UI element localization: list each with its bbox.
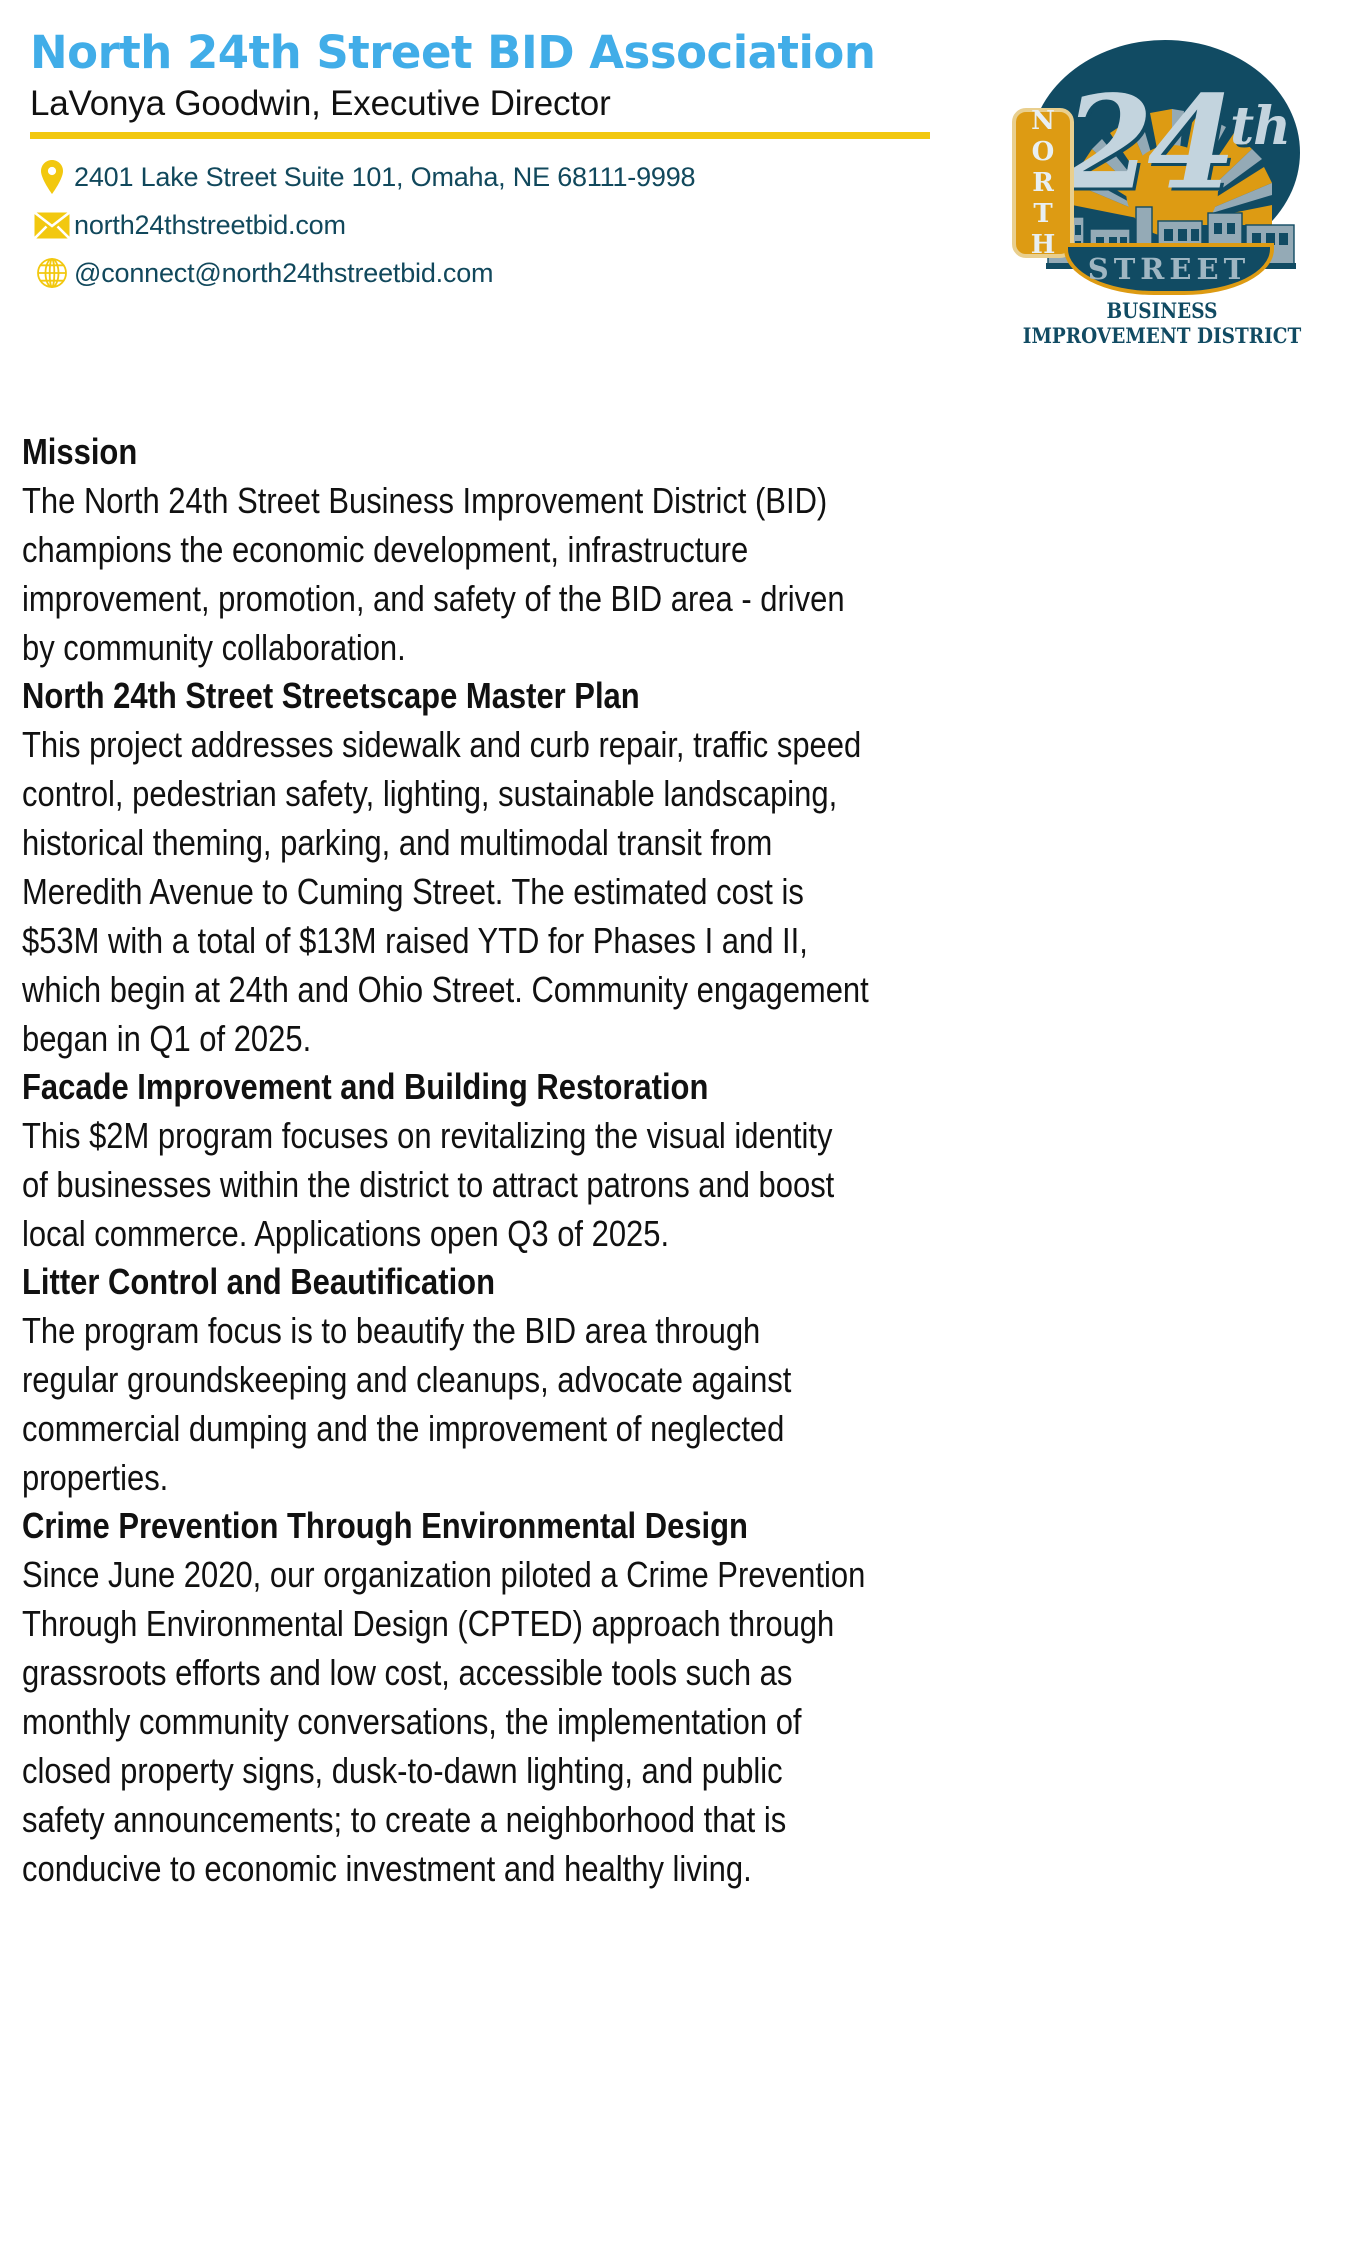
logo-badge: 24th NORTH STREET: [1012, 30, 1312, 295]
paragraph-line: This $2M program focuses on revitalizing…: [22, 1111, 1329, 1160]
section-paragraph: This $2M program focuses on revitalizing…: [22, 1111, 1329, 1258]
logo-street-text: STREET: [1088, 252, 1250, 286]
paragraph-line: $53M with a total of $13M raised YTD for…: [22, 916, 1329, 965]
content-section: Litter Control and BeautificationThe pro…: [22, 1258, 1334, 1502]
paragraph-line: regular groundskeeping and cleanups, adv…: [22, 1355, 1329, 1404]
paragraph-line: The North 24th Street Business Improveme…: [22, 476, 1329, 525]
paragraph-line: conducive to economic investment and hea…: [22, 1844, 1329, 1893]
content-section: Facade Improvement and Building Restorat…: [22, 1063, 1334, 1258]
paragraph-line: local commerce. Applications open Q3 of …: [22, 1209, 1329, 1258]
section-heading: Mission: [22, 428, 1150, 476]
paragraph-line: improvement, promotion, and safety of th…: [22, 574, 1329, 623]
logo-street-banner: STREET: [1064, 243, 1274, 295]
logo-north-text: NORTH: [1031, 106, 1055, 261]
contact-list: 2401 Lake Street Suite 101, Omaha, NE 68…: [30, 153, 970, 297]
section-paragraph: The program focus is to beautify the BID…: [22, 1306, 1329, 1502]
logo-number-suffix: th: [1230, 96, 1290, 157]
header-text-block: North 24th Street BID Association LaVony…: [30, 26, 970, 297]
document-header: North 24th Street BID Association LaVony…: [0, 0, 1350, 425]
content-section: Crime Prevention Through Environmental D…: [22, 1502, 1334, 1893]
section-heading: Crime Prevention Through Environmental D…: [22, 1502, 1150, 1550]
organization-title: North 24th Street BID Association: [30, 26, 970, 80]
paragraph-line: safety announcements; to create a neighb…: [22, 1795, 1329, 1844]
paragraph-line: which begin at 24th and Ohio Street. Com…: [22, 965, 1329, 1014]
logo-caption-bid: BUSINESS IMPROVEMENT DISTRICT: [1021, 298, 1303, 348]
paragraph-line: grassroots efforts and low cost, accessi…: [22, 1648, 1329, 1697]
content-section: MissionThe North 24th Street Business Im…: [22, 428, 1334, 672]
content-section: North 24th Street Streetscape Master Pla…: [22, 672, 1334, 1063]
section-paragraph: Since June 2020, our organization pilote…: [22, 1550, 1329, 1893]
paragraph-line: began in Q1 of 2025.: [22, 1014, 1329, 1063]
paragraph-line: The program focus is to beautify the BID…: [22, 1306, 1329, 1355]
logo-north-plaque: NORTH: [1012, 108, 1074, 258]
social-handle-text[interactable]: @connect@north24thstreetbid.com: [74, 257, 493, 289]
paragraph-line: monthly community conversations, the imp…: [22, 1697, 1329, 1746]
location-pin-icon: [30, 160, 74, 194]
paragraph-line: Through Environmental Design (CPTED) app…: [22, 1599, 1329, 1648]
gold-divider-rule: [30, 132, 930, 139]
document-body: MissionThe North 24th Street Business Im…: [22, 428, 1334, 1893]
address-text: 2401 Lake Street Suite 101, Omaha, NE 68…: [74, 161, 695, 193]
logo-number-value: 24: [1064, 69, 1230, 219]
section-paragraph: This project addresses sidewalk and curb…: [22, 720, 1329, 1063]
paragraph-line: properties.: [22, 1453, 1329, 1502]
section-heading: Facade Improvement and Building Restorat…: [22, 1063, 1150, 1111]
contact-row-website[interactable]: north24thstreetbid.com: [30, 201, 970, 249]
website-text[interactable]: north24thstreetbid.com: [74, 209, 346, 241]
paragraph-line: historical theming, parking, and multimo…: [22, 818, 1329, 867]
paragraph-line: closed property signs, dusk-to-dawn ligh…: [22, 1746, 1329, 1795]
paragraph-line: This project addresses sidewalk and curb…: [22, 720, 1329, 769]
paragraph-line: Since June 2020, our organization pilote…: [22, 1550, 1329, 1599]
logo-number-24th: 24th: [1064, 52, 1304, 217]
section-paragraph: The North 24th Street Business Improveme…: [22, 476, 1329, 672]
bid-logo: 24th NORTH STREET BUSINESS IMPROVEMENT D…: [1002, 30, 1322, 330]
paragraph-line: Meredith Avenue to Cuming Street. The es…: [22, 867, 1329, 916]
section-heading: Litter Control and Beautification: [22, 1258, 1150, 1306]
executive-director-line: LaVonya Goodwin, Executive Director: [30, 82, 970, 126]
section-heading: North 24th Street Streetscape Master Pla…: [22, 672, 1150, 720]
globe-icon: [30, 257, 74, 289]
paragraph-line: by community collaboration.: [22, 623, 1329, 672]
contact-row-social[interactable]: @connect@north24thstreetbid.com: [30, 249, 970, 297]
paragraph-line: champions the economic development, infr…: [22, 525, 1329, 574]
paragraph-line: control, pedestrian safety, lighting, su…: [22, 769, 1329, 818]
paragraph-line: of businesses within the district to att…: [22, 1160, 1329, 1209]
paragraph-line: commercial dumping and the improvement o…: [22, 1404, 1329, 1453]
envelope-icon: [30, 212, 74, 239]
contact-row-address: 2401 Lake Street Suite 101, Omaha, NE 68…: [30, 153, 970, 201]
